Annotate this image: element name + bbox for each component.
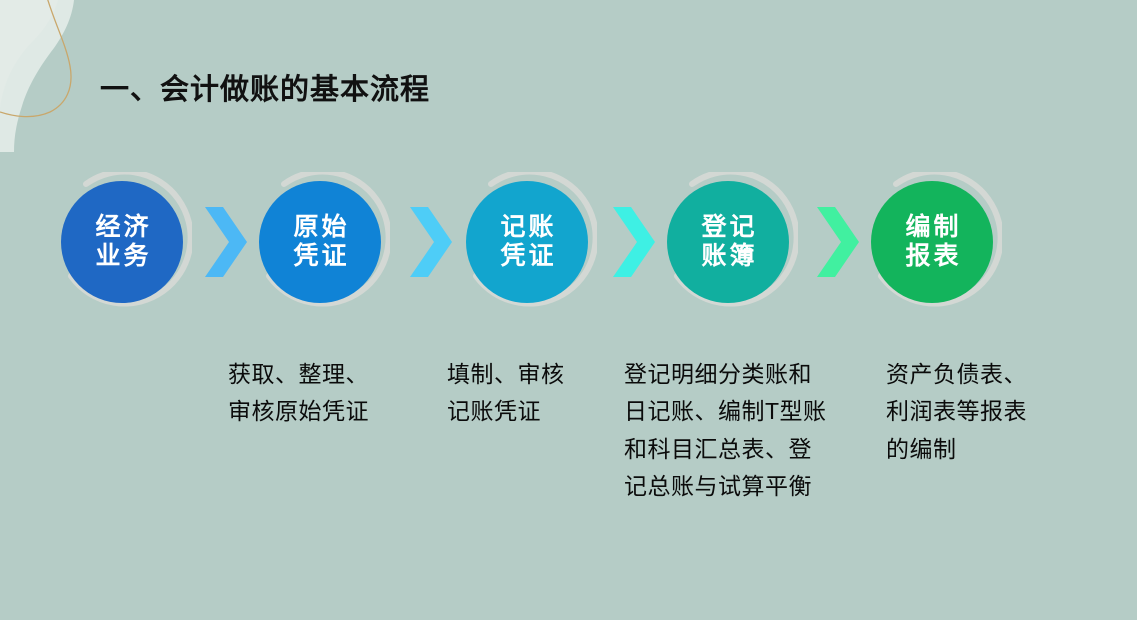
process-flow: 经济 业务 原始 凭证 记账 [0, 0, 1137, 620]
flow-node-label-line2: 业务 [92, 242, 151, 271]
flow-node-economic-business[interactable]: 经济 业务 [61, 181, 183, 303]
flow-node-accounting-voucher[interactable]: 记账 凭证 [466, 181, 588, 303]
slide-canvas: 一、会计做账的基本流程 经济 业务 原始 凭证 [0, 0, 1137, 620]
flow-node-disc: 记账 凭证 [466, 181, 588, 303]
flow-node-prepare-statements[interactable]: 编制 报表 [871, 181, 993, 303]
flow-caption-2: 填制、审核 记账凭证 [447, 356, 617, 431]
flow-node-label-line2: 凭证 [497, 242, 556, 271]
flow-node-label-line2: 报表 [902, 242, 961, 271]
flow-node-register-ledger[interactable]: 登记 账簿 [667, 181, 789, 303]
flow-arrow-1-icon [203, 203, 247, 281]
flow-node-disc: 经济 业务 [61, 181, 183, 303]
flow-node-label-line1: 原始 [290, 213, 349, 242]
flow-caption-4: 资产负债表、 利润表等报表 的编制 [886, 356, 1086, 468]
flow-node-label-line2: 凭证 [290, 242, 349, 271]
flow-node-label-line1: 经济 [92, 213, 151, 242]
flow-node-original-voucher[interactable]: 原始 凭证 [259, 181, 381, 303]
flow-node-label-line1: 登记 [698, 213, 757, 242]
flow-node-label-line1: 记账 [497, 213, 556, 242]
flow-arrow-3-icon [611, 203, 655, 281]
flow-node-disc: 登记 账簿 [667, 181, 789, 303]
flow-arrow-4-icon [815, 203, 859, 281]
flow-node-label-line1: 编制 [902, 213, 961, 242]
flow-caption-3: 登记明细分类账和 日记账、编制T型账 和科目汇总表、登 记总账与试算平衡 [624, 356, 864, 505]
flow-node-disc: 原始 凭证 [259, 181, 381, 303]
flow-arrow-2-icon [408, 203, 452, 281]
flow-caption-1: 获取、整理、 审核原始凭证 [228, 356, 428, 431]
flow-node-label-line2: 账簿 [698, 242, 757, 271]
flow-node-disc: 编制 报表 [871, 181, 993, 303]
